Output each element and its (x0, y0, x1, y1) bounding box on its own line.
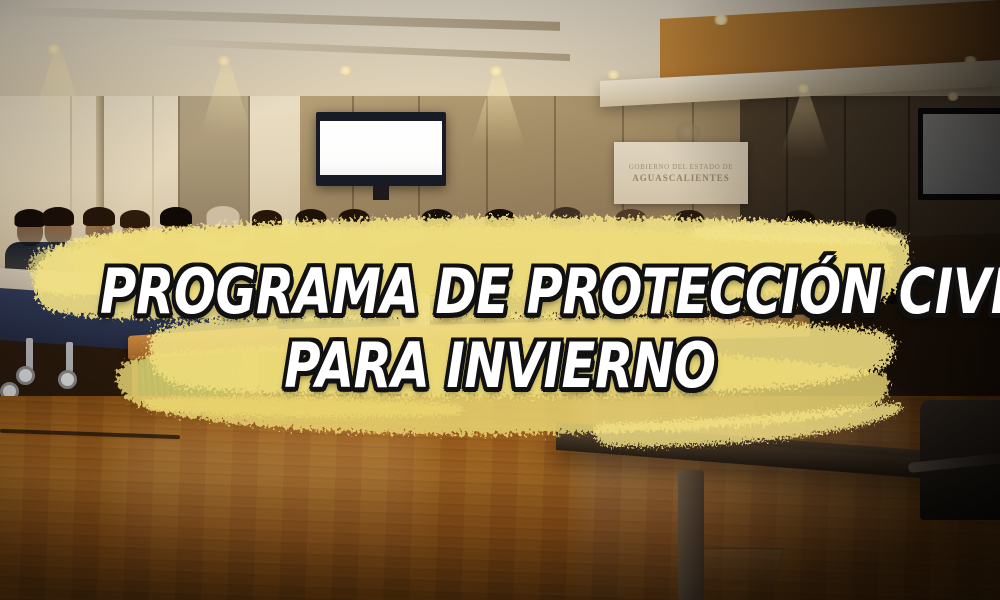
ceiling-light (796, 84, 811, 93)
attendee-hair (866, 209, 897, 227)
attendee-torso (603, 242, 659, 304)
attendee-hair (785, 210, 815, 228)
attendee (476, 200, 524, 304)
attendee-torso (853, 242, 909, 304)
ceiling-light (338, 66, 353, 75)
table-leg (66, 342, 73, 372)
attendee-hair (83, 207, 115, 226)
attendee (412, 200, 462, 304)
wall-plaque: GOBIERNO DEL ESTADO DE AGUASCALIENTES (614, 142, 748, 204)
attendee (606, 200, 656, 304)
attendee (666, 200, 712, 304)
attendee-hair (674, 210, 704, 228)
attendee-hair (422, 209, 453, 227)
attendee-hair (550, 207, 582, 226)
attendee-torso (473, 242, 527, 304)
conference-room-photo: GOBIERNO DEL ESTADO DE AGUASCALIENTES (0, 0, 1000, 600)
attendee-hair (339, 209, 370, 227)
secondary-display (918, 108, 1000, 200)
attendee-hair (485, 209, 516, 227)
table-caster (58, 370, 77, 389)
attendee (776, 200, 824, 304)
ceiling-light (606, 70, 621, 79)
state-emblem (676, 122, 700, 144)
attendee-hair (296, 209, 327, 227)
attendee-torso (537, 242, 595, 304)
attendee-torso (663, 242, 715, 304)
projection-screen-surface (320, 121, 442, 175)
floor-reflection (120, 430, 420, 580)
attendee-hair (616, 209, 647, 227)
attendee (856, 200, 906, 304)
plaque-line-1: GOBIERNO DEL ESTADO DE (629, 163, 733, 171)
foreground-desk-leg (678, 470, 704, 600)
projection-screen (316, 112, 446, 186)
ceiling-light (946, 92, 960, 101)
attendee-torso (773, 242, 827, 304)
attendee-hair (207, 206, 240, 226)
attendee-hair (120, 210, 150, 228)
table-caster (16, 366, 35, 385)
ceiling-light (712, 14, 730, 25)
attendee-hair (160, 207, 192, 226)
attendee-hair (42, 207, 74, 226)
plaque-line-2: AGUASCALIENTES (632, 173, 730, 183)
attendee-hair (252, 210, 282, 228)
screenshot-canvas: GOBIERNO DEL ESTADO DE AGUASCALIENTES (0, 0, 1000, 600)
attendee (540, 200, 592, 304)
ceiling-light (962, 56, 979, 66)
